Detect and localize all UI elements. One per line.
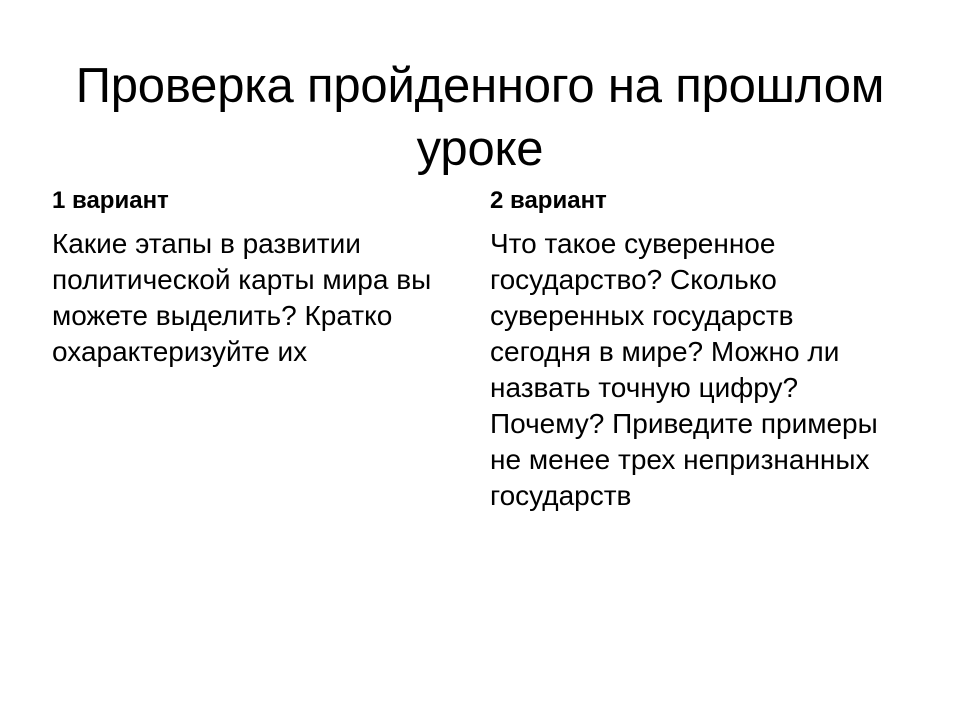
presentation-slide: Проверка пройденного на прошлом уроке 1 …	[0, 0, 960, 720]
content-columns: 1 вариант Какие этапы в развитии политич…	[0, 186, 960, 514]
variant-2-question: Что такое суверенное государство? Скольк…	[490, 226, 890, 514]
variant-2-heading: 2 вариант	[490, 186, 890, 216]
column-variant-1: 1 вариант Какие этапы в развитии политич…	[0, 186, 445, 370]
variant-1-heading: 1 вариант	[52, 186, 445, 216]
slide-title: Проверка пройденного на прошлом уроке	[60, 55, 900, 181]
variant-1-question: Какие этапы в развитии политической карт…	[52, 226, 445, 370]
column-variant-2: 2 вариант Что такое суверенное государст…	[445, 186, 890, 514]
